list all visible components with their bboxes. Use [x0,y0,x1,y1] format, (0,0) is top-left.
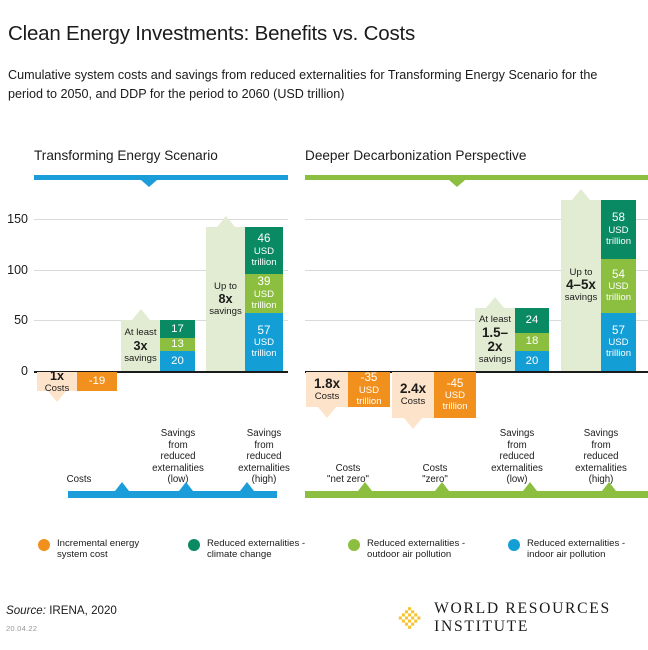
panel-title-tes: Transforming Energy Scenario [34,148,218,163]
source-note: Source: IRENA, 2020 [6,604,117,617]
legend-swatch-icon [38,539,50,551]
axis-bar-tes [68,491,277,498]
segment-value: 46 [258,233,271,246]
legend-label: Incremental energy system cost [57,538,139,561]
legend-item-incremental-energy-system-cost: Incremental energy system cost [38,538,139,561]
legend-item-reduced-externalities-climate-change: Reduced externalities - climate change [188,538,305,561]
callout-multiplier: 1.8x [314,377,340,391]
callout-pre: Up to [214,281,237,293]
legend-swatch-icon [348,539,360,551]
bar-segment-incremental-energy-system-cost: -19 [77,372,117,391]
segment-value: 58 [612,212,625,225]
page-title: Clean Energy Investments: Benefits vs. C… [8,22,415,46]
plot-area-ddp: 1.8xCosts-35USD trillion2.4xCosts-45USD … [305,200,648,448]
callout-ddp-3: Up to4–5xsavings [561,200,601,371]
segment-unit: USD trillion [356,385,381,407]
axis-marker-tes-0 [115,482,129,491]
segment-value: -19 [89,375,105,388]
callout-multiplier: 2.4x [400,382,426,396]
category-label-ddp-3: Savings from reduced externalities (high… [562,428,640,486]
segment-unit: USD trillion [251,337,276,359]
category-label-ddp-2: Savings from reduced externalities (low) [478,428,556,486]
callout-tes-1: At least3xsavings [121,320,160,371]
axis-marker-ddp-1 [435,482,449,491]
category-label-tes-2: Savings from reduced externalities (high… [225,428,303,486]
category-label-tes-1: Savings from reduced externalities (low) [139,428,217,486]
segment-value: 54 [612,269,625,282]
bar-segment-incremental-energy-system-cost: -45USD trillion [434,372,476,418]
callout-tes-2: Up to8xsavings [206,227,245,371]
segment-unit: USD trillion [251,246,276,268]
segment-unit: USD trillion [606,281,631,303]
segment-value: 13 [171,338,184,351]
segment-unit: USD trillion [606,225,631,247]
bar-segment-outdoor-air-pollution: 39USD trillion [245,274,283,313]
bar-segment-climate-change: 24 [515,308,549,332]
segment-value: 57 [612,325,625,338]
chart-root: Clean Energy Investments: Benefits vs. C… [0,0,648,650]
bar-segment-incremental-energy-system-cost: -35USD trillion [348,372,390,407]
legend-label: Reduced externalities - climate change [207,538,305,561]
plot-area-tes: 1501005001xCosts-19At least3xsavings1713… [34,200,288,448]
panel-title-ddp: Deeper Decarbonization Perspective [305,148,526,163]
y-tick-100: 100 [7,263,28,277]
segment-value: 18 [526,335,539,348]
legend-item-reduced-externalities-indoor-air-pollution: Reduced externalities - indoor air pollu… [508,538,625,561]
legend-item-reduced-externalities-outdoor-air-pollution: Reduced externalities - outdoor air poll… [348,538,465,561]
source-label: Source: [6,604,46,617]
callout-small: Costs [401,396,426,408]
callout-notch [217,216,235,227]
callout-ddp-0: 1.8xCosts [306,372,348,407]
callout-tes-0: 1xCosts [37,372,77,391]
axis-bar-ddp [305,491,648,498]
segment-value: 24 [526,314,539,327]
segment-value: -35 [361,372,378,385]
callout-multiplier: 3x [133,339,147,353]
panel-rule-tes [34,175,288,180]
axis-marker-tes-1 [179,482,193,491]
segment-unit: USD trillion [606,337,631,359]
y-tick-50: 50 [14,313,28,327]
callout-post: savings [209,306,242,318]
callout-ddp-1: 2.4xCosts [392,372,434,418]
panel-tes: Transforming Energy Scenario1501005001xC… [34,148,288,528]
panel-rule-notch-ddp [449,180,465,187]
callout-ddp-2: At least1.5–2xsavings [475,308,515,371]
y-tick-0: 0 [21,364,28,378]
segment-value: 39 [258,276,271,289]
callout-pre: At least [125,327,157,339]
callout-post: savings [124,353,157,365]
legend-swatch-icon [188,539,200,551]
panel-rule-ddp [305,175,648,180]
gridline-150 [34,219,288,220]
date-stamp: 20.04.22 [6,624,37,633]
callout-post: savings [479,354,512,366]
callout-notch [132,309,150,320]
callout-small: Costs [315,391,340,403]
wri-name: WORLD RESOURCES INSTITUTE [434,600,648,636]
callout-multiplier: 8x [218,292,232,306]
segment-value: 57 [258,325,271,338]
segment-value: 17 [171,323,184,336]
callout-multiplier: 4–5x [566,278,596,292]
axis-marker-tes-2 [240,482,254,491]
segment-unit: USD trillion [251,289,276,311]
legend-swatch-icon [508,539,520,551]
callout-notch [48,391,66,402]
callout-notch [404,418,422,429]
axis-marker-ddp-2 [523,482,537,491]
category-label-ddp-0: Costs "net zero" [309,463,387,486]
wri-diamond-icon [398,603,421,633]
callout-post: savings [565,292,598,304]
axis-marker-ddp-3 [602,482,616,491]
bar-segment-outdoor-air-pollution: 18 [515,333,549,351]
panel-ddp: Deeper Decarbonization Perspective1.8xCo… [305,148,648,528]
callout-notch [486,297,504,308]
segment-unit: USD trillion [442,390,467,412]
wri-logo: WORLD RESOURCES INSTITUTE [398,600,648,636]
bar-segment-indoor-air-pollution: 20 [515,351,549,371]
category-label-tes-0: Costs [44,474,114,486]
callout-notch [572,189,590,200]
bar-segment-indoor-air-pollution: 57USD trillion [245,313,283,371]
callout-notch [318,407,336,418]
segment-value: 20 [171,355,184,368]
segment-value: 20 [526,355,539,368]
callout-multiplier: 1x [50,369,64,383]
bar-segment-climate-change: 58USD trillion [601,200,636,259]
page-subtitle: Cumulative system costs and savings from… [8,66,628,104]
callout-multiplier: 1.5–2x [475,326,515,354]
legend-label: Reduced externalities - outdoor air poll… [367,538,465,561]
bar-segment-climate-change: 17 [160,320,195,337]
bar-segment-outdoor-air-pollution: 13 [160,338,195,351]
axis-marker-ddp-0 [358,482,372,491]
bar-segment-outdoor-air-pollution: 54USD trillion [601,259,636,314]
bar-segment-indoor-air-pollution: 57USD trillion [601,313,636,371]
callout-pre: At least [479,314,511,326]
source-value: IRENA, 2020 [49,604,117,617]
legend: Incremental energy system costReduced ex… [0,533,648,573]
legend-label: Reduced externalities - indoor air pollu… [527,538,625,561]
panel-rule-notch-tes [141,180,157,187]
y-tick-150: 150 [7,212,28,226]
segment-value: -45 [447,378,464,391]
bar-segment-climate-change: 46USD trillion [245,227,283,274]
bar-segment-indoor-air-pollution: 20 [160,351,195,371]
